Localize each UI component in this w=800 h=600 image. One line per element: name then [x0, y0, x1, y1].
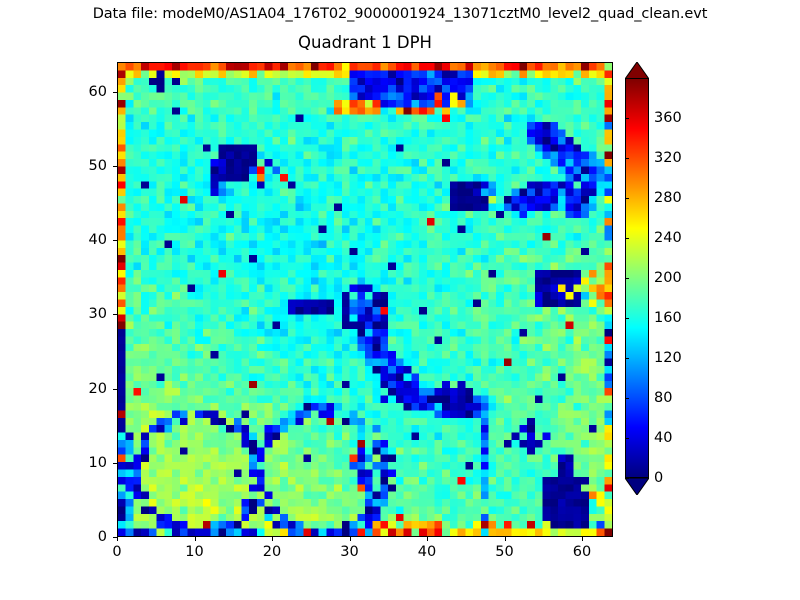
y-tick-mark [113, 537, 117, 538]
x-tick-mark [350, 537, 351, 541]
colorbar-tick-mark [625, 398, 629, 399]
figure-canvas: Data file: modeM0/AS1A04_176T02_90000019… [0, 0, 800, 600]
x-tick-label: 60 [573, 544, 591, 560]
y-tick-mark [113, 314, 117, 315]
x-tick-mark [427, 537, 428, 541]
colorbar-tick-label: 120 [654, 350, 682, 366]
y-tick-label: 30 [55, 306, 107, 322]
x-tick-mark [272, 537, 273, 541]
y-tick-mark [113, 166, 117, 167]
y-tick-mark [113, 92, 117, 93]
x-tick-label: 0 [112, 544, 121, 560]
colorbar-tick-label: 160 [654, 310, 682, 326]
colorbar-tick-label: 0 [654, 470, 663, 486]
x-tick-mark [117, 537, 118, 541]
x-tick-mark [505, 537, 506, 541]
heatmap-axes[interactable] [117, 62, 613, 537]
y-tick-label: 40 [55, 232, 107, 248]
x-tick-label: 10 [185, 544, 203, 560]
colorbar-tick-label: 240 [654, 230, 682, 246]
y-tick-label: 60 [55, 84, 107, 100]
colorbar-tick-label: 280 [654, 190, 682, 206]
heatmap-image[interactable] [118, 63, 612, 536]
colorbar-gradient [626, 79, 648, 477]
y-tick-mark [113, 389, 117, 390]
colorbar-tick-mark [625, 358, 629, 359]
y-tick-label: 20 [55, 381, 107, 397]
x-tick-label: 40 [418, 544, 436, 560]
colorbar-tick-label: 80 [654, 390, 672, 406]
colorbar-extend-down-icon [625, 478, 649, 495]
colorbar-tick-label: 40 [654, 430, 672, 446]
colorbar-tick-label: 360 [654, 110, 682, 126]
y-tick-label: 50 [55, 158, 107, 174]
y-tick-label: 0 [55, 529, 107, 545]
colorbar-tick-mark [625, 118, 629, 119]
colorbar-tick-mark [625, 478, 629, 479]
figure-suptitle: Data file: modeM0/AS1A04_176T02_90000019… [0, 6, 800, 22]
colorbar-tick-label: 200 [654, 270, 682, 286]
colorbar-tick-mark [625, 438, 629, 439]
y-tick-label: 10 [55, 455, 107, 471]
x-tick-mark [582, 537, 583, 541]
colorbar-tick-mark [625, 198, 629, 199]
y-tick-mark [113, 240, 117, 241]
colorbar-tick-mark [625, 238, 629, 239]
colorbar-extend-up-icon [625, 62, 649, 79]
colorbar-tick-mark [625, 318, 629, 319]
colorbar-tick-mark [625, 158, 629, 159]
colorbar-tick-label: 320 [654, 150, 682, 166]
colorbar-tick-mark [625, 278, 629, 279]
x-tick-label: 30 [340, 544, 358, 560]
x-tick-mark [195, 537, 196, 541]
y-tick-mark [113, 463, 117, 464]
x-tick-label: 20 [263, 544, 281, 560]
colorbar[interactable] [625, 62, 649, 545]
axes-title: Quadrant 1 DPH [117, 33, 613, 52]
x-tick-label: 50 [495, 544, 513, 560]
